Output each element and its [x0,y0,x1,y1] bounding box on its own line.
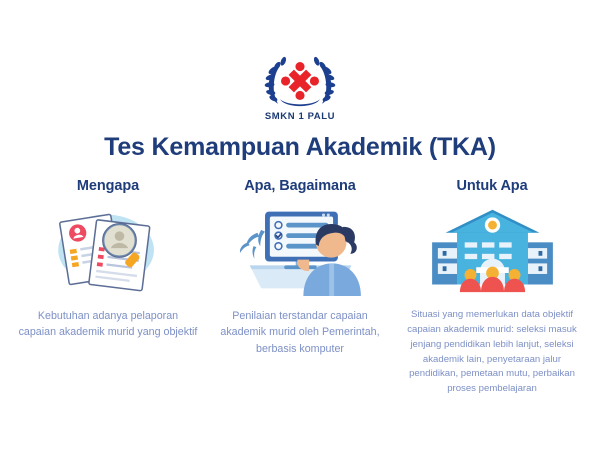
content-columns: Mengapa [12,178,588,397]
slide-canvas: SMKN 1 PALU Tes Kemampuan Akademik (TKA)… [0,0,600,450]
student-at-computer-illustration [228,204,373,296]
column-body-untuk-apa: Situasi yang memerlukan data objektif ca… [402,308,582,397]
school-building-illustration [420,204,565,296]
brand-logo-caption: SMKN 1 PALU [265,111,335,122]
documents-magnifier-illustration [41,204,175,296]
smkn-crest-icon [262,52,338,110]
page-title: Tes Kemampuan Akademik (TKA) [0,133,600,162]
people-group [459,267,524,292]
column-heading-untuk-apa: Untuk Apa [456,178,527,194]
brand-logo-block: SMKN 1 PALU [0,52,600,122]
column-heading-apa-bagaimana: Apa, Bagaimana [244,178,355,194]
column-untuk-apa: Untuk Apa [396,178,588,397]
column-heading-mengapa: Mengapa [77,178,139,194]
column-mengapa: Mengapa [12,178,204,341]
column-body-mengapa: Kebutuhan adanya pelaporan capaian akade… [18,308,198,341]
column-apa-bagaimana: Apa, Bagaimana [204,178,396,357]
column-body-apa-bagaimana: Penilaian terstandar capaian akademik mu… [210,308,390,357]
